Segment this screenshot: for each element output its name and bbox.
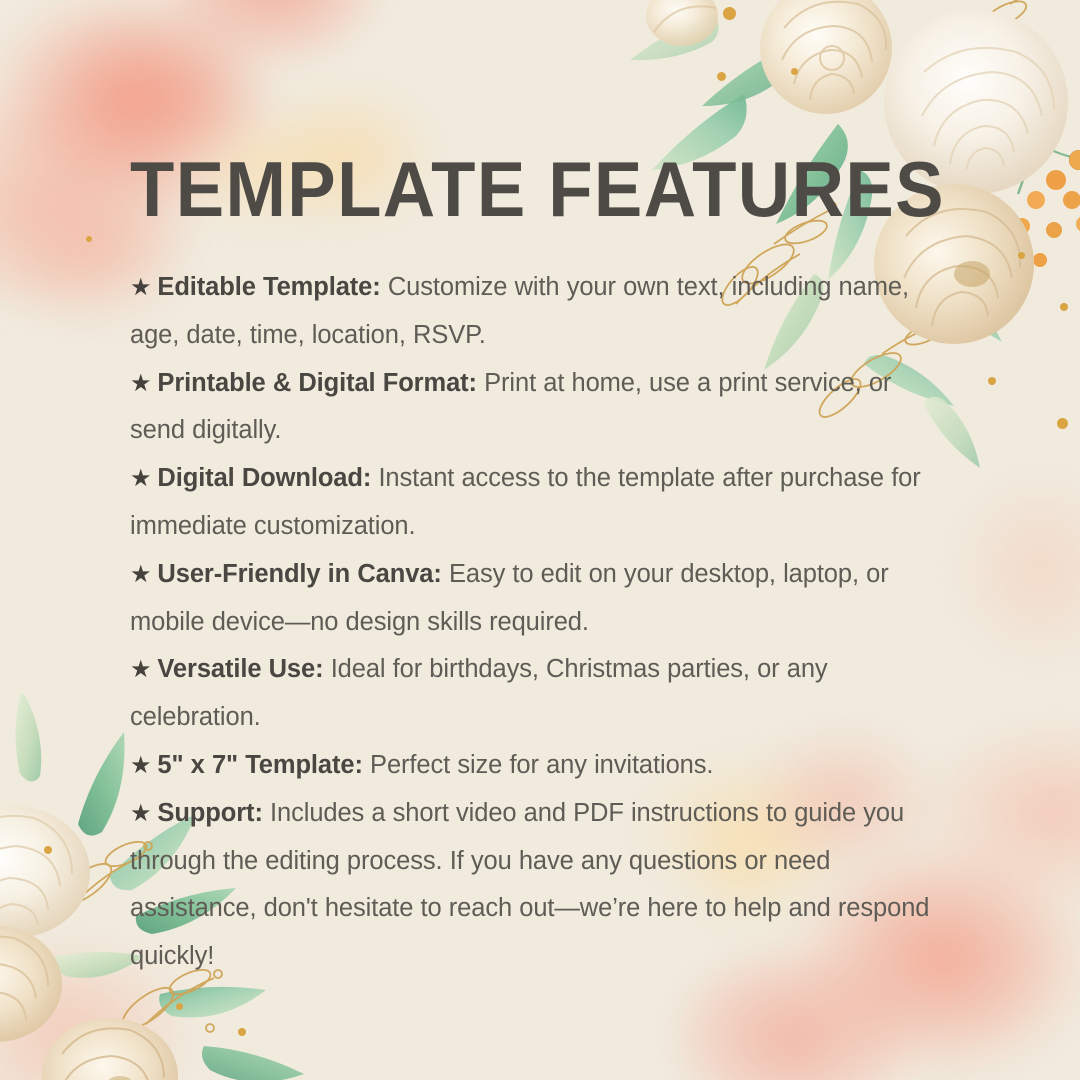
feature-label: Editable Template:: [157, 273, 380, 301]
feature-list: ★Editable Template: Customize with your …: [130, 264, 945, 981]
feature-label: Digital Download:: [157, 464, 371, 492]
feature-item-template-size: ★5" x 7" Template: Perfect size for any …: [130, 742, 945, 790]
feature-item-user-friendly-in-canva: ★User-Friendly in Canva: Easy to edit on…: [130, 551, 945, 647]
star-bullet-icon: ★: [130, 274, 151, 301]
feature-label: Support:: [157, 799, 262, 827]
content-area: TEMPLATE FEATURES ★Editable Template: Cu…: [0, 0, 1080, 1080]
feature-item-printable-digital-format: ★Printable & Digital Format: Print at ho…: [130, 360, 945, 456]
star-bullet-icon: ★: [130, 800, 151, 827]
feature-description: Perfect size for any invitations.: [370, 751, 713, 779]
star-bullet-icon: ★: [130, 656, 151, 683]
feature-item-versatile-use: ★Versatile Use: Ideal for birthdays, Chr…: [130, 646, 945, 742]
feature-item-support: ★Support: Includes a short video and PDF…: [130, 790, 945, 981]
feature-item-digital-download: ★Digital Download: Instant access to the…: [130, 455, 945, 551]
feature-label: Printable & Digital Format:: [157, 369, 477, 397]
poster-canvas: TEMPLATE FEATURES ★Editable Template: Cu…: [0, 0, 1080, 1080]
star-bullet-icon: ★: [130, 561, 151, 588]
star-bullet-icon: ★: [130, 752, 151, 779]
feature-label: User-Friendly in Canva:: [157, 560, 441, 588]
star-bullet-icon: ★: [130, 370, 151, 397]
star-bullet-icon: ★: [130, 465, 151, 492]
feature-label: Versatile Use:: [157, 655, 323, 683]
feature-label: 5" x 7" Template:: [157, 751, 362, 779]
page-title: TEMPLATE FEATURES: [130, 150, 874, 228]
feature-item-editable-template: ★Editable Template: Customize with your …: [130, 264, 945, 360]
